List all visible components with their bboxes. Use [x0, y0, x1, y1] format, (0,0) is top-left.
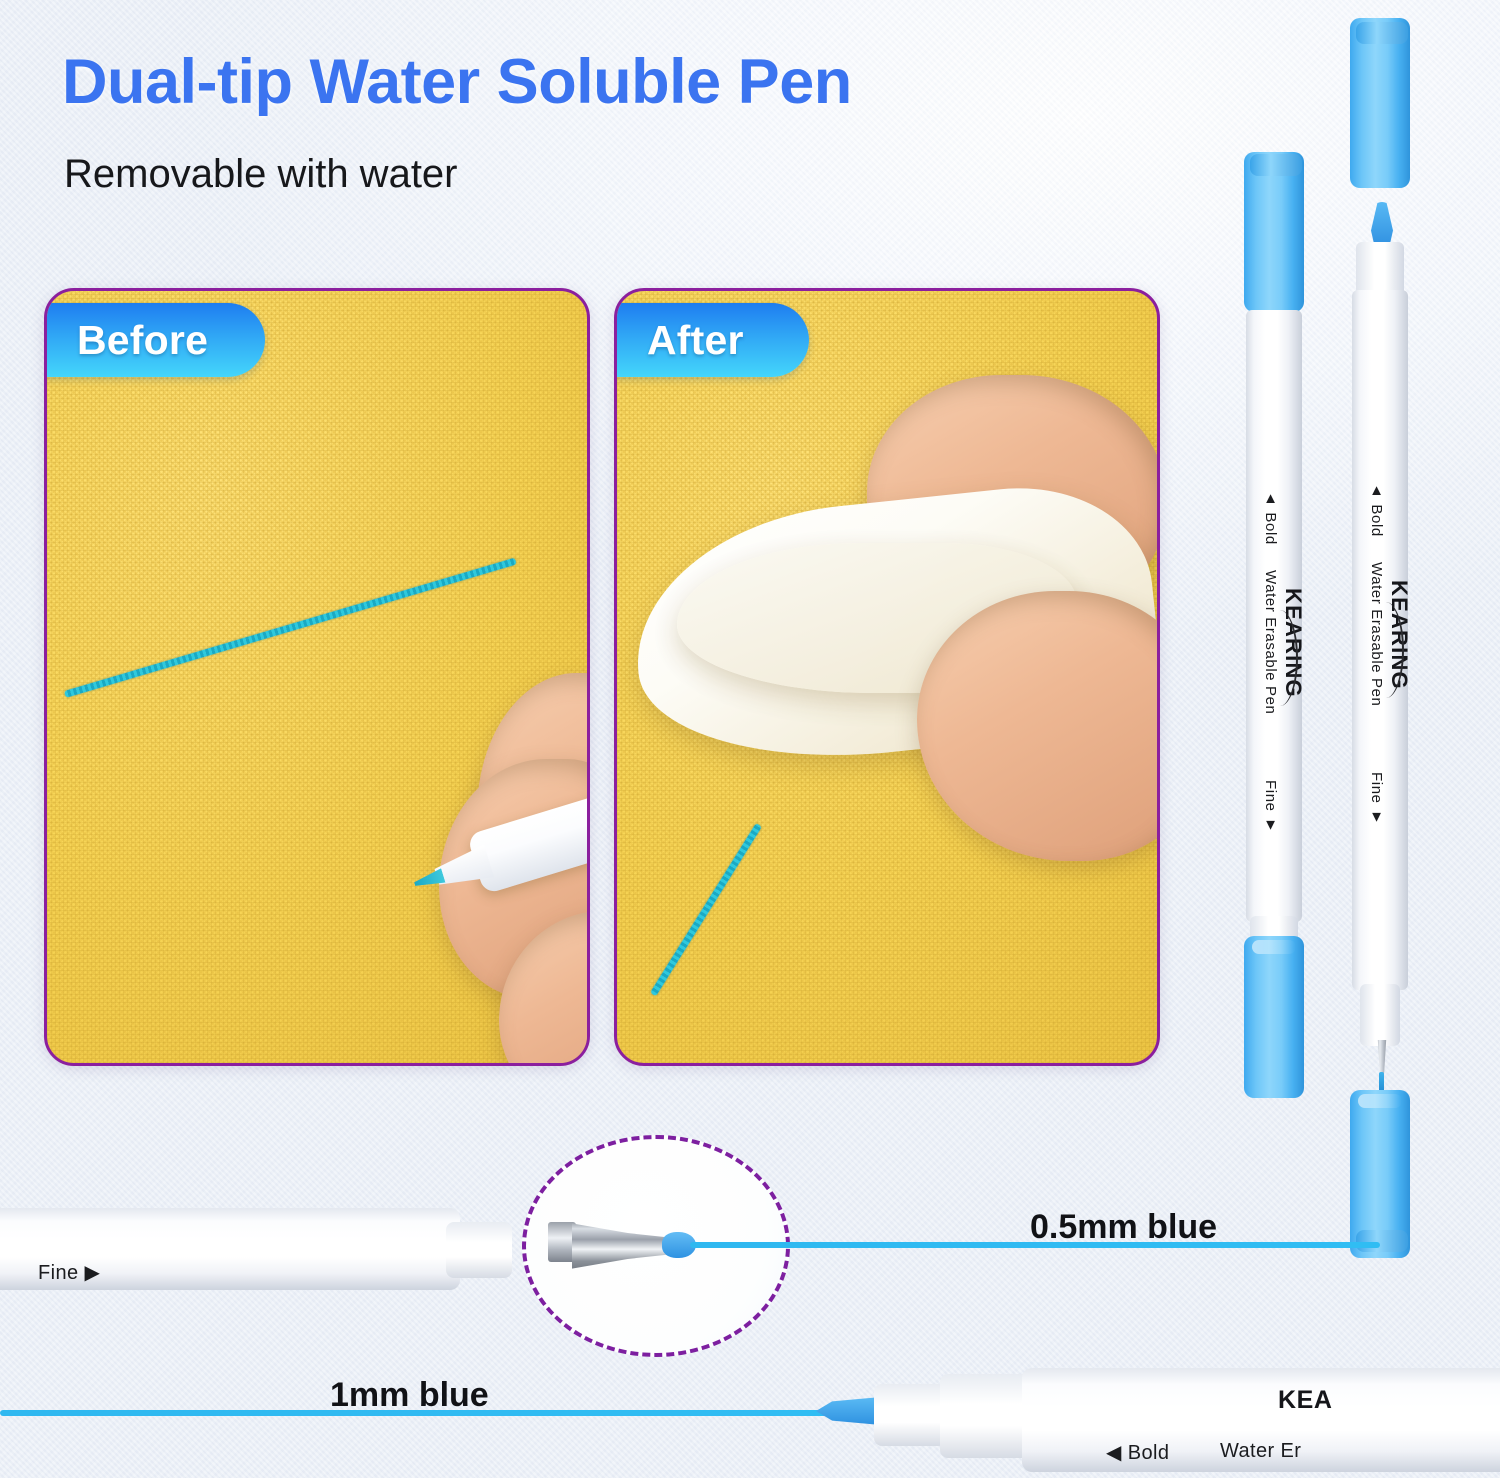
pen-shoulder: [446, 1222, 512, 1278]
pen-product-fragment: Water Er: [1220, 1440, 1301, 1463]
pen-bold-label-left: ▲ Bold: [1262, 490, 1279, 545]
bold-nib-icon: [816, 1396, 878, 1426]
ink-line-remnant-bottom: [650, 823, 762, 996]
pen-shoulder: [940, 1374, 1030, 1458]
pen-bold-label: ◀ Bold: [1106, 1440, 1169, 1465]
arrow-left-icon: ◀: [1106, 1442, 1122, 1464]
pen-fine-label-left: Fine ▼: [1262, 780, 1279, 834]
fine-size-label: 0.5mm blue: [1030, 1208, 1217, 1247]
pen-horizontal-bold: KEA ◀ Bold Water Er: [816, 1368, 1500, 1478]
pen-vertical-left: ▲ Bold Water Erasable Pen Fine ▼ KEARING: [1246, 140, 1306, 1100]
pen-fine-label-right: Fine ▼: [1368, 772, 1385, 826]
product-marketing-image: Dual-tip Water Soluble Pen Removable wit…: [0, 0, 1500, 1478]
ink-line-before: [64, 558, 517, 698]
bold-size-label: 1mm blue: [330, 1376, 489, 1415]
before-panel: Before: [44, 288, 590, 1066]
pen-brand-fragment: KEA: [1278, 1386, 1333, 1415]
pen-cap-bottom: [1244, 936, 1304, 1098]
pen-vertical-right: ▲ Bold Water Erasable Pen Fine ▼ KEARING: [1352, 12, 1412, 1272]
before-badge: Before: [44, 303, 265, 377]
pen-cap-ring: [1356, 22, 1408, 44]
pen-cap-ring: [1250, 154, 1302, 176]
page-title: Dual-tip Water Soluble Pen: [62, 46, 852, 118]
after-badge: After: [614, 303, 809, 377]
pen-nib-icon: [412, 868, 445, 891]
pen-fine-label: Fine ▶: [38, 1260, 100, 1285]
arrow-down-icon: ▼: [1368, 808, 1385, 826]
pen-cap-ring-bottom: [1356, 1230, 1408, 1252]
after-panel: After: [614, 288, 1160, 1066]
pen-bold-label-right: ▲ Bold: [1368, 482, 1385, 537]
tip-collar: [548, 1222, 576, 1262]
arrow-up-icon: ▲: [1262, 490, 1279, 508]
page-subtitle: Removable with water: [64, 152, 458, 197]
pen-shoulder-top: [1356, 242, 1404, 296]
pen-tip-cone: [874, 1384, 946, 1446]
pen-horizontal-fine: G Pen Fine ▶: [0, 1198, 580, 1308]
fingers: [917, 591, 1160, 861]
arrow-down-icon: ▼: [1262, 816, 1279, 834]
arrow-up-icon: ▲: [1368, 482, 1385, 500]
pen-cap-top: [1244, 152, 1304, 312]
pen-shoulder-bottom: [1360, 984, 1400, 1046]
arrow-right-icon: ▶: [84, 1262, 100, 1284]
